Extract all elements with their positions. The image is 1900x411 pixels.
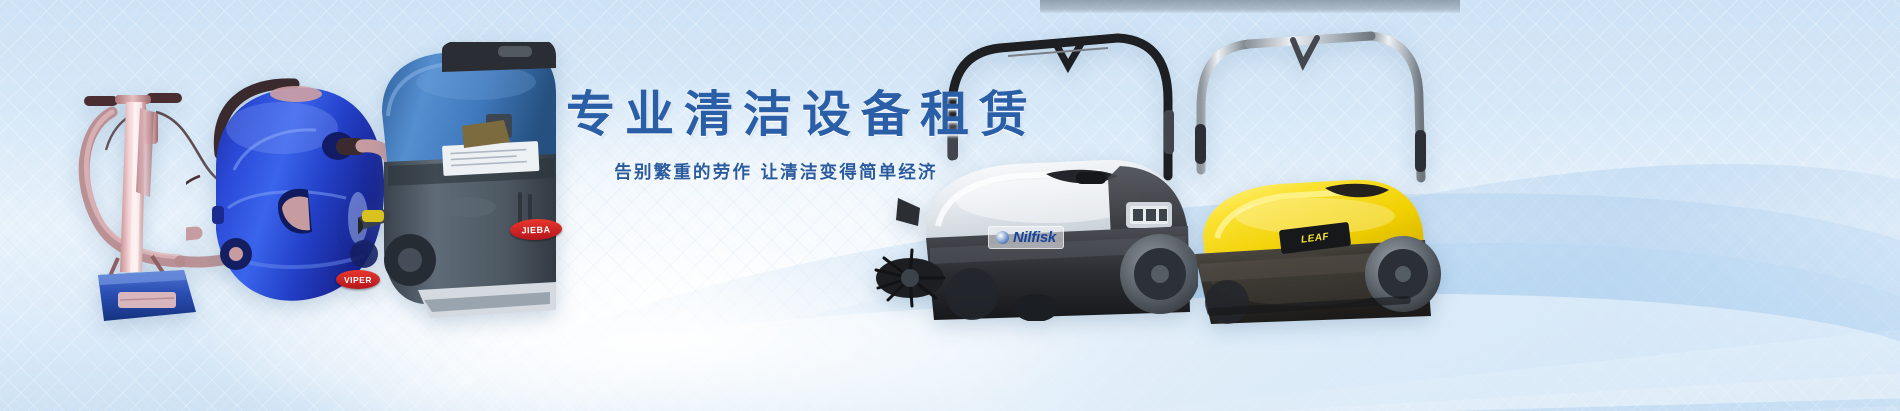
logo-nilfisk: Nilfisk bbox=[988, 226, 1064, 249]
scrubber-illustration bbox=[358, 42, 568, 322]
nilfisk-emblem-icon bbox=[996, 231, 1009, 244]
top-strip bbox=[1040, 0, 1460, 13]
machine-walk-behind-scrubber: JIEBA bbox=[358, 42, 568, 322]
promo-banner: 专业清洁设备租赁 告别繁重的劳作 让清洁变得简单经济 bbox=[0, 0, 1900, 411]
yellow-sweeper-illustration bbox=[1175, 30, 1460, 325]
page-subtitle: 告别繁重的劳作 让清洁变得简单经济 bbox=[566, 159, 986, 184]
headline-block: 专业清洁设备租赁 告别繁重的劳作 让清洁变得简单经济 bbox=[566, 90, 986, 184]
page-title: 专业清洁设备租赁 bbox=[566, 90, 986, 139]
machine-yellow-sweeper: LEAF bbox=[1175, 30, 1460, 325]
